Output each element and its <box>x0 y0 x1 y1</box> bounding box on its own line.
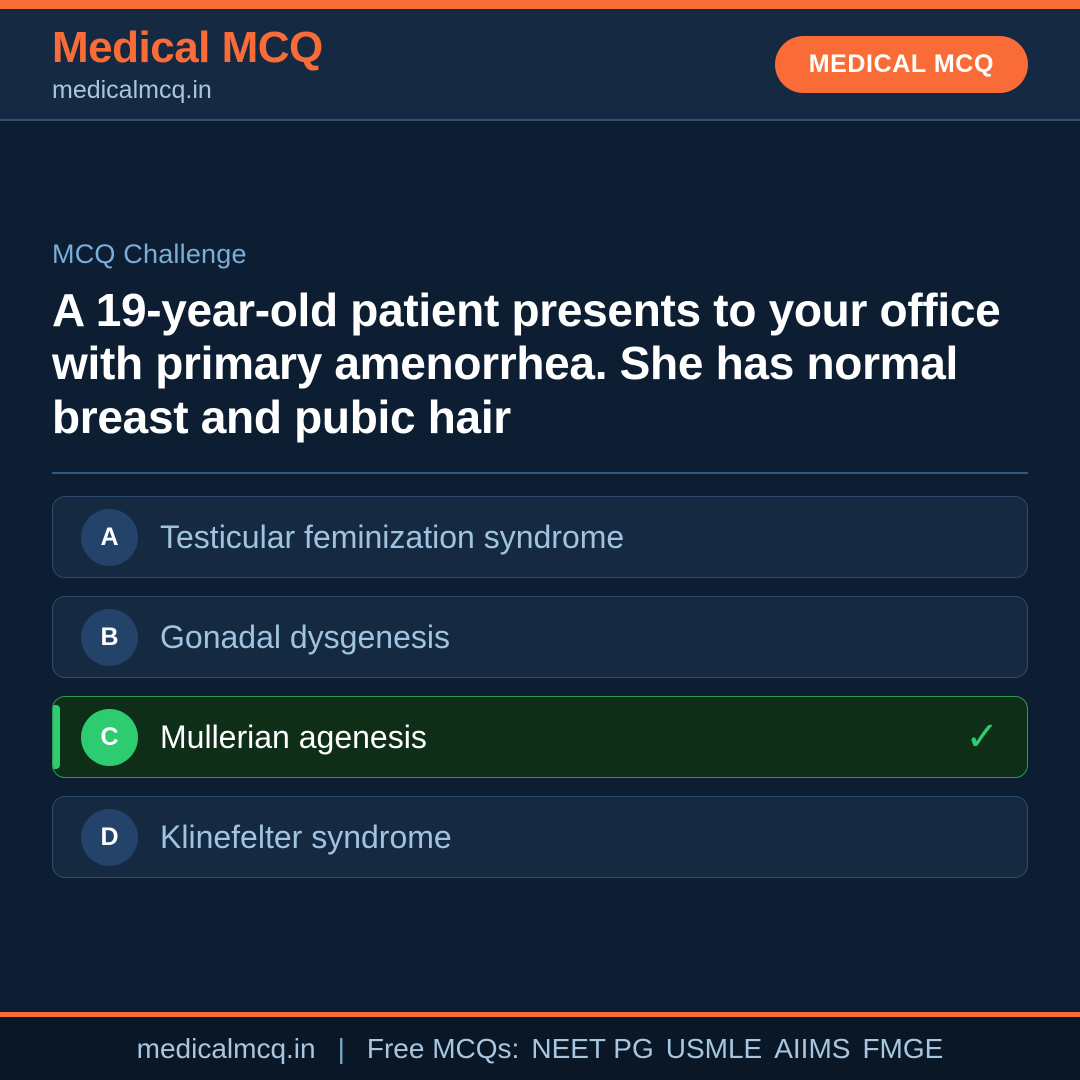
mcq-card: Medical MCQ medicalmcq.in MEDICAL MCQ MC… <box>0 0 1080 1080</box>
brand-subtitle: medicalmcq.in <box>52 78 323 103</box>
exam-neet-pg: NEET PG <box>531 1033 653 1064</box>
option-c[interactable]: C Mullerian agenesis ✓ <box>52 696 1028 778</box>
option-label: Testicular feminization syndrome <box>160 519 624 556</box>
option-label: Gonadal dysgenesis <box>160 619 450 656</box>
options-list: A Testicular feminization syndrome B Gon… <box>52 496 1028 878</box>
option-letter-badge: C <box>81 709 138 766</box>
footer-exams: Free MCQs:NEET PGUSMLEAIIMSFMGE <box>367 1033 943 1065</box>
check-icon: ✓ <box>965 717 999 757</box>
option-b[interactable]: B Gonadal dysgenesis <box>52 596 1028 678</box>
footer-text: medicalmcq.in | Free MCQs:NEET PGUSMLEAI… <box>137 1033 944 1065</box>
exam-usmle: USMLE <box>666 1033 762 1064</box>
main-content: MCQ Challenge A 19-year-old patient pres… <box>0 121 1080 1012</box>
brand: Medical MCQ medicalmcq.in <box>52 26 323 103</box>
option-a[interactable]: A Testicular feminization syndrome <box>52 496 1028 578</box>
option-label: Klinefelter syndrome <box>160 819 452 856</box>
header-badge: MEDICAL MCQ <box>775 36 1028 93</box>
option-letter-badge: D <box>81 809 138 866</box>
footer-site: medicalmcq.in <box>137 1033 316 1065</box>
question-text: A 19-year-old patient presents to your o… <box>52 284 1028 444</box>
option-letter-badge: A <box>81 509 138 566</box>
kicker-label: MCQ Challenge <box>52 239 1028 270</box>
question-divider <box>52 472 1028 474</box>
top-accent-strip <box>0 0 1080 9</box>
option-letter-badge: B <box>81 609 138 666</box>
footer-separator: | <box>338 1033 345 1065</box>
correct-accent-bar <box>53 705 60 769</box>
brand-title: Medical MCQ <box>52 26 323 70</box>
option-label: Mullerian agenesis <box>160 719 427 756</box>
footer-exams-label: Free MCQs: <box>367 1033 519 1064</box>
page-header: Medical MCQ medicalmcq.in MEDICAL MCQ <box>0 9 1080 121</box>
option-d[interactable]: D Klinefelter syndrome <box>52 796 1028 878</box>
exam-fmge: FMGE <box>862 1033 943 1064</box>
exam-aiims: AIIMS <box>774 1033 850 1064</box>
page-footer: medicalmcq.in | Free MCQs:NEET PGUSMLEAI… <box>0 1012 1080 1080</box>
